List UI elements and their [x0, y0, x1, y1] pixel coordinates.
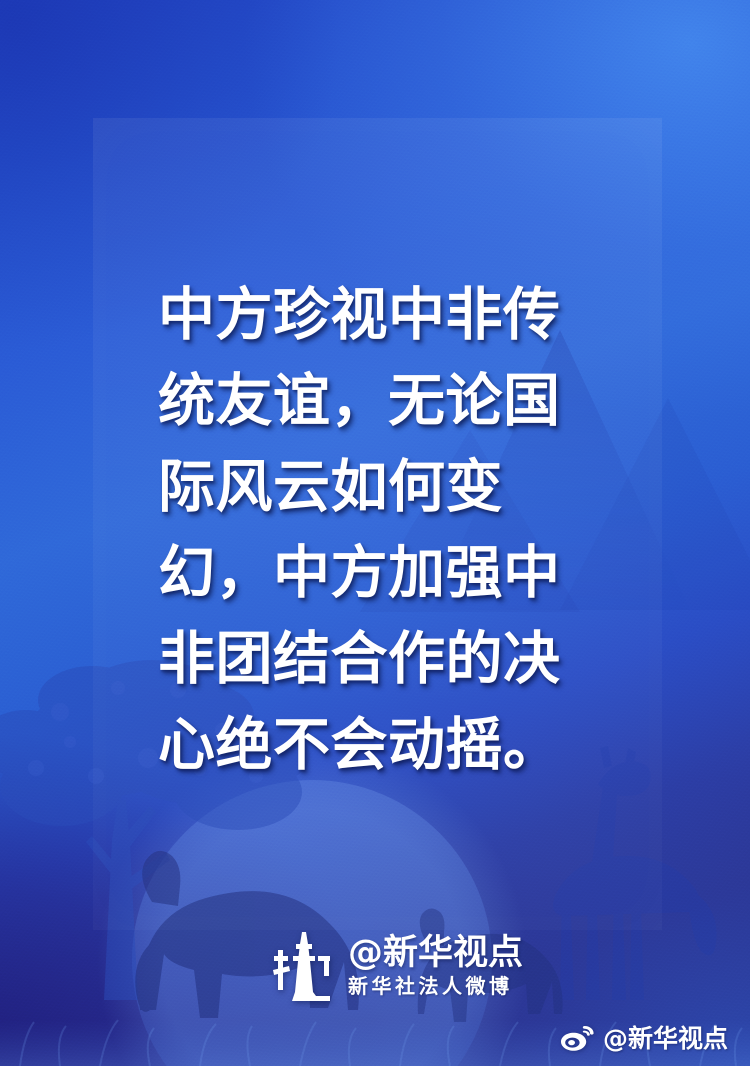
headline-quote: 中方珍视中非传统友谊，无论国际风云如何变幻，中方加强中非团结合作的决心绝不会动摇…	[158, 272, 608, 788]
logo-title: @新华视点	[348, 934, 523, 972]
logo-subtitle: 新华社法人微博	[348, 975, 523, 998]
weibo-handle: @新华视点	[603, 1025, 728, 1052]
weibo-badge: @新华视点	[560, 1025, 728, 1052]
xinhua-logo-lockup: @新华视点 新华社法人微博	[272, 930, 523, 1002]
poster-canvas: 中方珍视中非传统友谊，无论国际风云如何变幻，中方加强中非团结合作的决心绝不会动摇…	[0, 0, 750, 1066]
xinhua-fa-tower-logo-icon	[272, 930, 334, 1002]
logo-text-column: @新华视点 新华社法人微博	[348, 934, 523, 998]
weibo-icon	[560, 1025, 594, 1052]
